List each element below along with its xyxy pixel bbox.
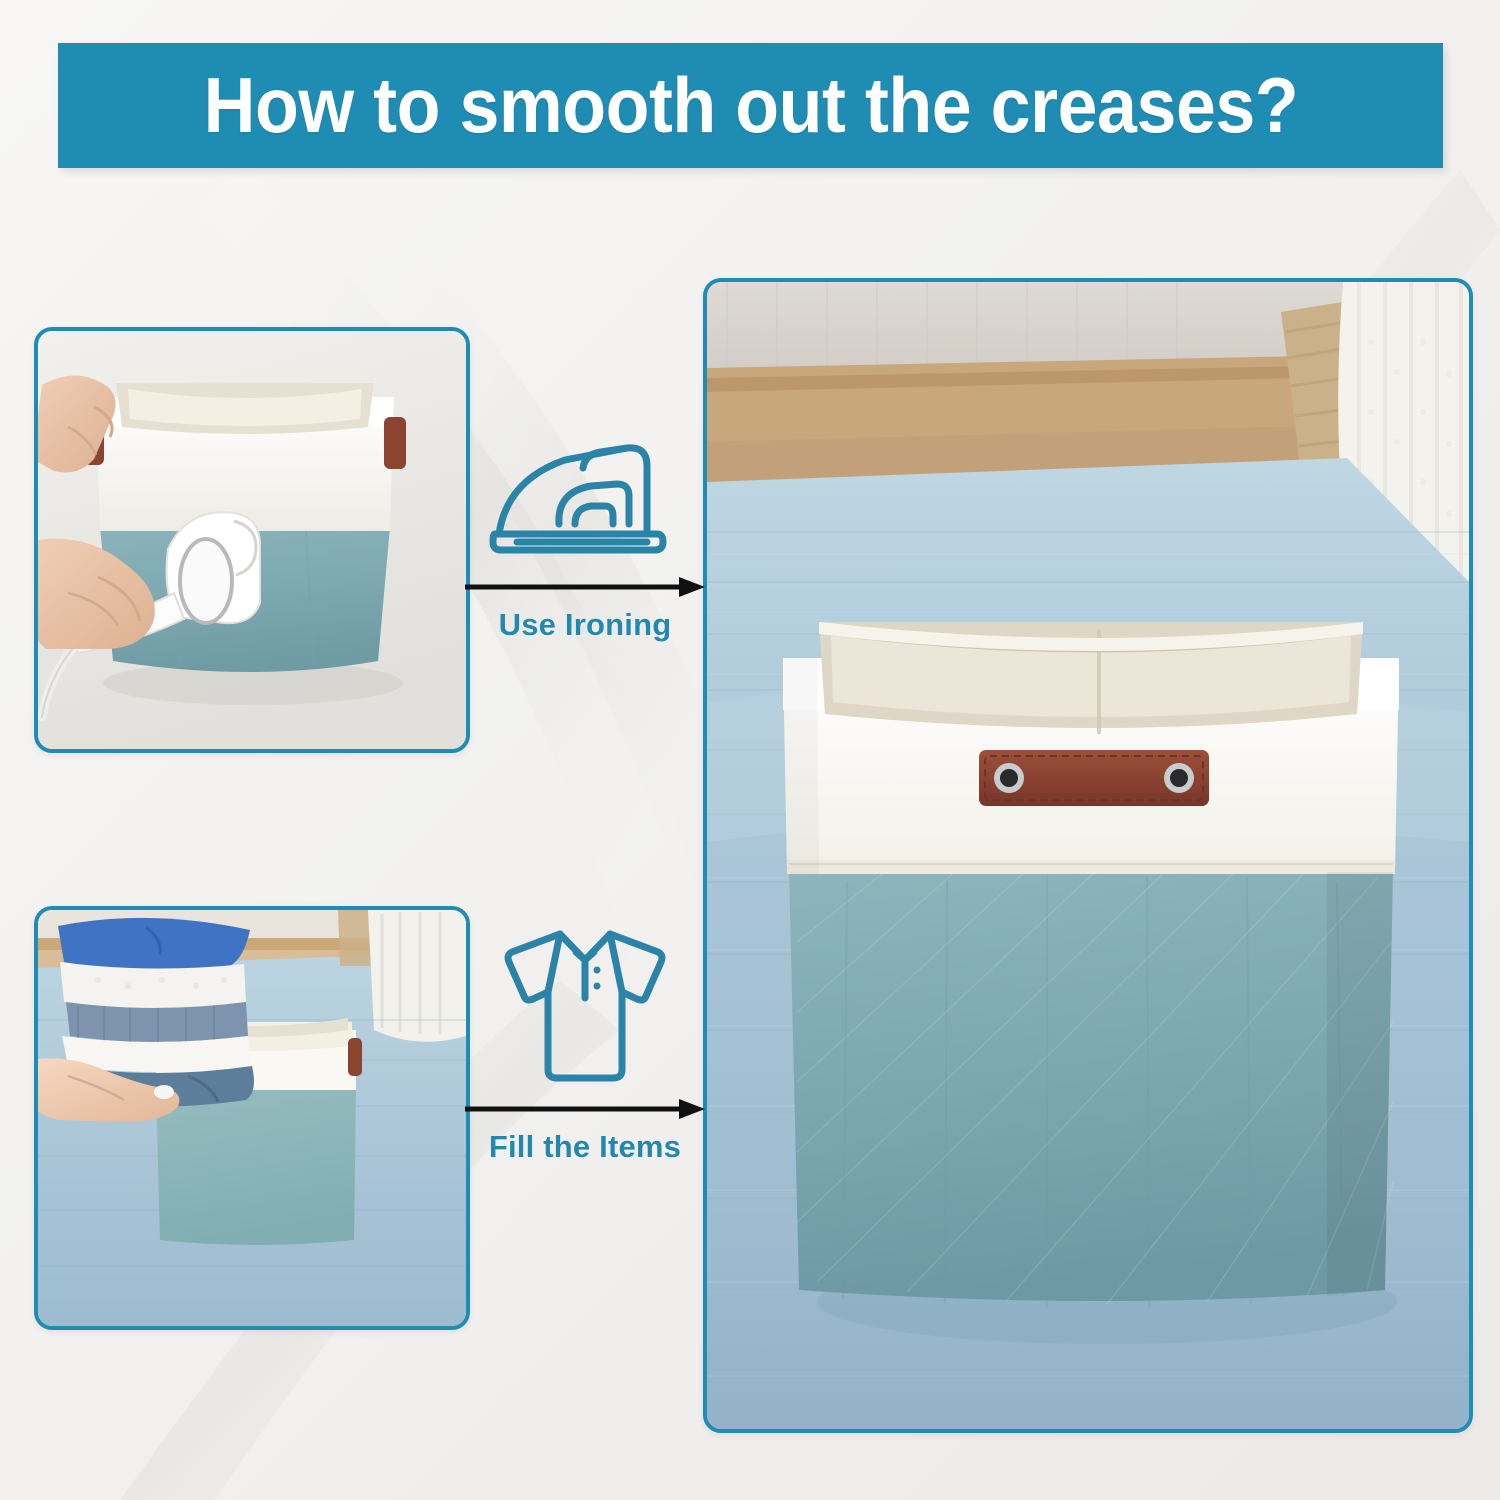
step-use-ironing: Use Ironing [465, 418, 705, 643]
header-banner: How to smooth out the creases? [58, 43, 1443, 168]
step-2-label: Fill the Items [465, 1129, 705, 1165]
clothes-iron-icon [487, 438, 683, 568]
step-1-icon-wrap [465, 418, 705, 568]
polo-shirt-icon [500, 924, 670, 1090]
arrow-right-icon [465, 574, 705, 600]
step-2-arrow-wrap [465, 1096, 705, 1122]
filling-bin-with-clothes-photo [38, 910, 466, 1326]
step-1-arrow-wrap [465, 574, 705, 600]
step-2-icon-wrap [465, 940, 705, 1090]
infographic-root: How to smooth out the creases? [0, 0, 1500, 1500]
storage-bin-on-rug-photo [707, 282, 1469, 1429]
step-fill-the-items: Fill the Items [465, 940, 705, 1165]
step-1-label: Use Ironing [465, 607, 705, 643]
arrow-right-icon [465, 1096, 705, 1122]
steaming-storage-bin-photo [38, 331, 466, 749]
page-title: How to smooth out the creases? [203, 60, 1298, 151]
filling-bin-with-clothes-panel [34, 906, 470, 1330]
steaming-storage-bin-panel [34, 327, 470, 753]
storage-bin-on-rug-panel [703, 278, 1473, 1433]
leather-handle [979, 750, 1209, 806]
